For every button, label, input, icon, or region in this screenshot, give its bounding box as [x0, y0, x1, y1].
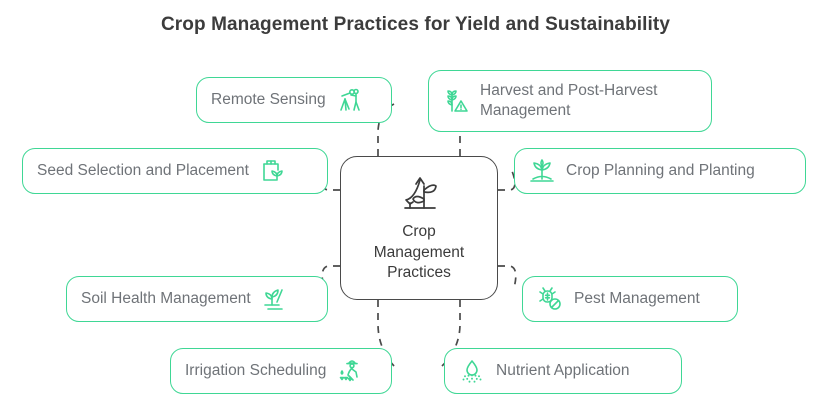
node-soil-health-label: Soil Health Management — [81, 289, 251, 309]
node-crop-planning-label: Crop Planning and Planting — [566, 161, 755, 181]
node-irrigation-scheduling-label: Irrigation Scheduling — [185, 361, 326, 381]
farmer-watering-icon — [337, 358, 363, 384]
node-remote-sensing-label: Remote Sensing — [211, 90, 326, 110]
center-node-label: Crop Management Practices — [374, 222, 464, 284]
node-crop-planning[interactable]: Crop Planning and Planting — [514, 148, 806, 194]
node-harvest-label: Harvest and Post-Harvest Management — [480, 81, 697, 121]
node-harvest[interactable]: Harvest and Post-Harvest Management — [428, 70, 712, 132]
node-nutrient-application-label: Nutrient Application — [496, 361, 630, 381]
node-remote-sensing[interactable]: Remote Sensing — [196, 77, 392, 123]
center-label-line-3: Practices — [374, 263, 464, 284]
node-pest-management[interactable]: Pest Management — [522, 276, 738, 322]
center-label-line-2: Management — [374, 243, 464, 264]
node-pest-management-label: Pest Management — [574, 289, 700, 309]
node-nutrient-application[interactable]: Nutrient Application — [444, 348, 682, 394]
node-soil-health[interactable]: Soil Health Management — [66, 276, 328, 322]
droplet-spray-icon — [459, 358, 485, 384]
plant-growth-arrow-icon — [395, 172, 443, 216]
node-irrigation-scheduling[interactable]: Irrigation Scheduling — [170, 348, 392, 394]
seed-bag-sprout-icon — [260, 158, 286, 184]
plant-soil-layers-icon — [262, 286, 288, 312]
center-label-line-1: Crop — [374, 222, 464, 243]
node-seed-selection-label: Seed Selection and Placement — [37, 161, 249, 181]
bug-prohibited-icon — [537, 286, 563, 312]
surveyor-tripod-icon — [337, 87, 363, 113]
sprout-soil-icon — [529, 158, 555, 184]
node-seed-selection[interactable]: Seed Selection and Placement — [22, 148, 328, 194]
connector-crop-planning — [498, 171, 515, 190]
connector-pest-management — [498, 266, 516, 288]
wheat-warning-icon — [443, 88, 469, 114]
center-node[interactable]: Crop Management Practices — [340, 156, 498, 300]
